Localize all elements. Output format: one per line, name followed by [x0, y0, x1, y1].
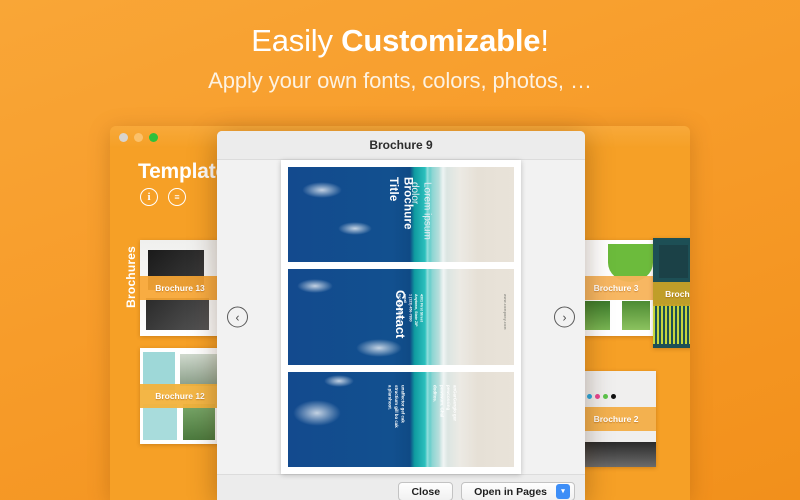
headline-lead: Easily: [251, 23, 341, 58]
template-thumbnail-brochure[interactable]: Brochure: [653, 238, 690, 348]
preview-panel-contact: Contact 4301 First Street Anytown, State…: [288, 269, 514, 364]
cloud-icon: [302, 182, 342, 198]
preview-panel-cover: Brochure Title Lorem ipsum dolor: [288, 167, 514, 262]
close-button[interactable]: [119, 133, 128, 142]
thumbnail-label-band: Brochure 2: [576, 407, 656, 432]
thumbnail-label-band: Brochure 3: [576, 276, 656, 301]
company-website: www.company.com: [503, 294, 507, 347]
section-label-brochures: Brochures: [124, 246, 138, 308]
thumbnail-label: Brochure: [665, 289, 690, 299]
info-icon[interactable]: i: [140, 188, 158, 206]
thumbnail-label: Brochure 12: [155, 391, 205, 401]
open-in-pages-label: Open in Pages: [474, 486, 547, 498]
screenshot-stage: Easily Customizable! Apply your own font…: [0, 0, 800, 500]
headline-tail: !: [540, 23, 548, 58]
headline: Easily Customizable!: [0, 22, 800, 60]
cloud-icon: [297, 279, 333, 293]
document-preview: Brochure Title Lorem ipsum dolor Contact…: [281, 160, 521, 474]
list-menu-icon[interactable]: ≡: [168, 188, 186, 206]
cloud-icon: [293, 400, 341, 426]
surf-foam: [425, 372, 430, 467]
body-column-one: unaffector gef cak structium gill bo cak…: [386, 385, 406, 461]
template-thumbnail-brochure-13[interactable]: Brochure 13: [140, 240, 220, 336]
surf-foam: [439, 167, 447, 262]
dialog-header: Brochure 9: [217, 131, 585, 160]
previous-template-arrow-icon[interactable]: ‹: [227, 307, 248, 328]
thumbnail-label: Brochure 2: [594, 414, 639, 424]
thumbnail-label: Brochure 3: [594, 283, 639, 293]
template-thumbnail-brochure-2[interactable]: Brochure 2: [576, 371, 656, 467]
surf-foam: [439, 269, 448, 364]
toolbar: i ≡: [140, 188, 186, 206]
subheadline: Apply your own fonts, colors, photos, …: [0, 68, 800, 94]
body-column-two: anGarGangio gur pewcossing pewtwum. Ghal…: [431, 385, 457, 461]
headline-strong: Customizable: [341, 23, 540, 58]
preview-panel-body: unaffector gef cak structium gill bo cak…: [288, 372, 514, 467]
next-template-arrow-icon[interactable]: ›: [554, 307, 575, 328]
thumbnail-label-band: Brochure: [653, 282, 690, 306]
open-in-pages-button[interactable]: Open in Pages ▾: [461, 482, 575, 500]
brochure-subtitle: Lorem ipsum dolor: [408, 182, 433, 251]
chevron-down-icon[interactable]: ▾: [556, 484, 570, 499]
dialog-title: Brochure 9: [369, 138, 432, 152]
dialog-body: ‹ Brochure Title Lorem ipsum dolor: [217, 160, 585, 474]
template-thumbnail-brochure-12[interactable]: Brochure 12: [140, 348, 220, 444]
template-thumbnail-brochure-3[interactable]: Brochure 3: [576, 240, 656, 336]
maximize-button[interactable]: [149, 133, 158, 142]
template-preview-dialog: Brochure 9 ‹ Brochure Title Lorem ipsum …: [217, 131, 585, 500]
thumbnail-label: Brochure 13: [155, 283, 205, 293]
thumbnail-label-band: Brochure 13: [140, 276, 220, 301]
contact-details: 4301 First Street Anytown, State ZIP 1 (…: [396, 294, 424, 349]
thumbnail-label-band: Brochure 12: [140, 384, 220, 409]
surf-foam: [425, 269, 430, 364]
minimize-button[interactable]: [134, 133, 143, 142]
marketing-copy: Easily Customizable! Apply your own font…: [0, 22, 800, 94]
dialog-footer: Close Open in Pages ▾: [217, 474, 585, 500]
close-button[interactable]: Close: [398, 482, 453, 500]
